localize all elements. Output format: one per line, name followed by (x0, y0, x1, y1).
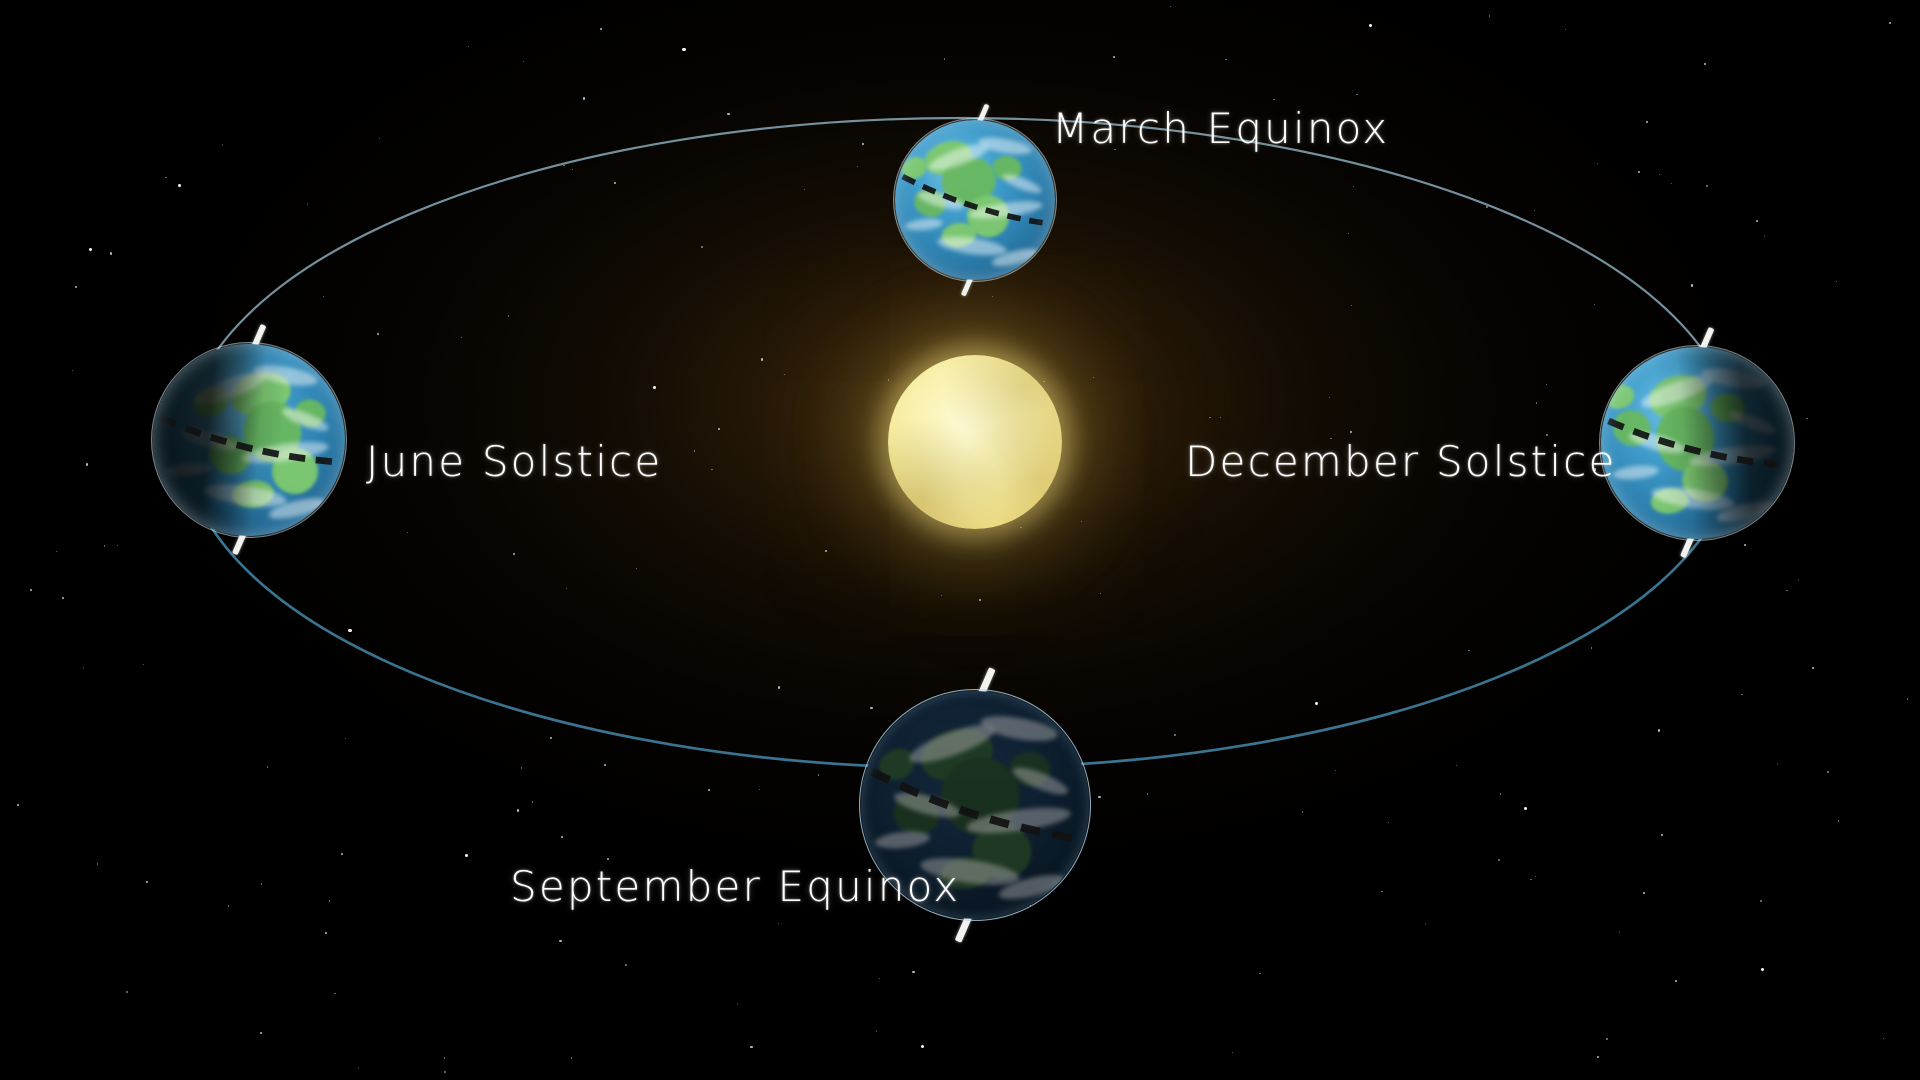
earth-march-equinox (895, 120, 1055, 280)
label-march-equinox: March Equinox (1052, 104, 1389, 153)
earth-june-solstice (153, 344, 345, 536)
seasons-diagram: March Equinox June Solstice September Eq… (0, 0, 1920, 1080)
equator-dashed-line (1601, 347, 1793, 539)
sun (888, 355, 1062, 529)
label-june-solstice: June Solstice (366, 437, 662, 486)
label-december-solstice: December Solstice (1185, 437, 1617, 486)
equator-dashed-line (153, 344, 345, 536)
equator-dashed-line (895, 120, 1055, 280)
label-september-equinox: September Equinox (510, 862, 960, 911)
earth-december-solstice (1601, 347, 1793, 539)
sun-surface-texture (888, 355, 1062, 529)
